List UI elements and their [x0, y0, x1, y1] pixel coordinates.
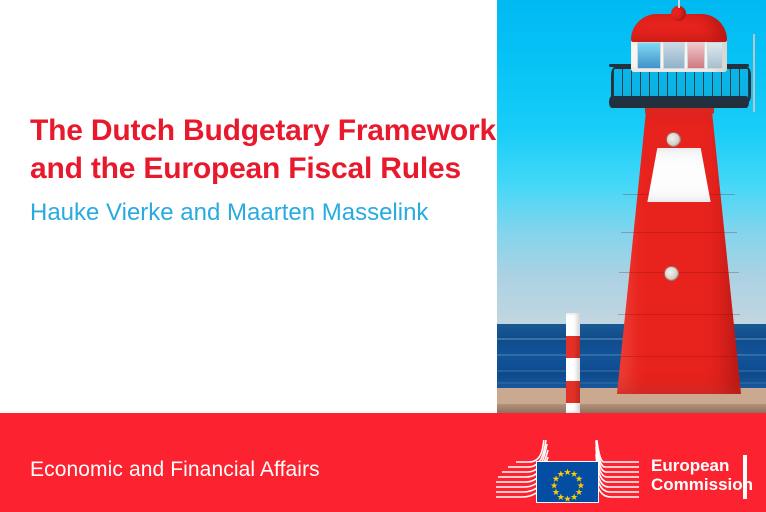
- tower-seam: [618, 314, 740, 315]
- tower-vent-lower-icon: [664, 266, 679, 281]
- title-slide: The Dutch Budgetary Framework and the Eu…: [0, 0, 766, 512]
- lighthouse-lantern-room: [631, 38, 727, 72]
- lighthouse-gallery-railing: [611, 67, 751, 103]
- lighthouse-antenna: [753, 34, 755, 112]
- tower-seam: [617, 356, 741, 357]
- title-block: The Dutch Budgetary Framework and the Eu…: [30, 112, 490, 228]
- authors-subtitle: Hauke Vierke and Maarten Masselink: [30, 198, 490, 228]
- ec-org-line-1: European: [651, 456, 753, 475]
- tower-seam: [619, 272, 739, 273]
- lighthouse-photograph: [497, 0, 766, 413]
- lantern-window: [707, 42, 723, 69]
- lantern-window: [637, 42, 661, 69]
- lantern-window: [687, 42, 705, 69]
- lighthouse-finial-ball: [671, 6, 686, 21]
- department-label: Economic and Financial Affairs: [30, 458, 320, 482]
- logo-divider-bar: [743, 455, 747, 499]
- eu-flag-icon: [536, 461, 599, 503]
- ec-flowing-lines-right-icon: [595, 440, 643, 502]
- page-title-line-1: The Dutch Budgetary Framework: [30, 112, 490, 150]
- tower-seam: [621, 232, 737, 233]
- ec-org-line-2: Commission: [651, 475, 753, 494]
- european-commission-logo: European Commission: [492, 440, 756, 506]
- red-white-lighthouse: [601, 4, 766, 413]
- lighthouse-tower: [617, 104, 741, 394]
- lantern-window: [663, 42, 685, 69]
- page-title-line-2: and the European Fiscal Rules: [30, 150, 490, 188]
- ec-organisation-name: European Commission: [651, 456, 753, 494]
- red-white-striped-post: [566, 313, 580, 413]
- tower-vent-upper-icon: [666, 132, 681, 147]
- lighthouse-finial-rod: [678, 0, 680, 8]
